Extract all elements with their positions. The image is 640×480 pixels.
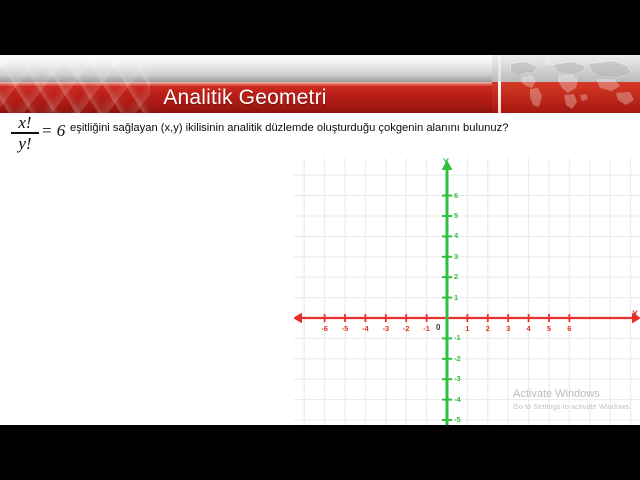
- activate-windows-watermark: Activate Windows Go to Settings to activ…: [513, 387, 635, 412]
- x-tick-label: -2: [399, 324, 413, 333]
- question-row: x! y! = 6 eşitliğini sağlayan (x,y) ikil…: [0, 113, 640, 155]
- page-title: Analitik Geometri: [0, 83, 490, 113]
- world-map-continents-icon: [492, 55, 640, 113]
- x-tick-label: 5: [542, 324, 556, 333]
- formula-fraction: x! y!: [10, 114, 40, 152]
- x-tick-label: -1: [420, 324, 434, 333]
- y-tick-label: 1: [454, 293, 458, 302]
- x-tick-label: 2: [481, 324, 495, 333]
- y-tick-label: -1: [454, 333, 461, 342]
- x-tick-label: 6: [562, 324, 576, 333]
- world-map-graphic: [492, 55, 640, 113]
- formula-denominator: y!: [10, 135, 40, 152]
- letterbox-bottom-bar: [0, 425, 640, 480]
- x-tick-label: 3: [501, 324, 515, 333]
- slide-root: Analitik Geometri x! y! = 6 eşitliğini s…: [0, 0, 640, 480]
- y-axis-label: Y: [443, 158, 449, 167]
- y-tick-label: -4: [454, 395, 461, 404]
- activate-windows-title: Activate Windows: [513, 387, 635, 401]
- formula-equals-value: = 6: [41, 122, 65, 139]
- x-tick-label: -6: [318, 324, 332, 333]
- letterbox-top-bar: [0, 0, 640, 55]
- y-tick-label: 2: [454, 272, 458, 281]
- slide-canvas: Analitik Geometri x! y! = 6 eşitliğini s…: [0, 55, 640, 425]
- y-tick-label: -3: [454, 374, 461, 383]
- y-tick-label: 6: [454, 191, 458, 200]
- x-axis-label: X: [632, 309, 638, 319]
- x-tick-label: 1: [460, 324, 474, 333]
- banner-map-divider: [498, 55, 501, 113]
- formula-expression: x! y! = 6: [8, 111, 70, 155]
- x-tick-label: 4: [522, 324, 536, 333]
- y-tick-label: 5: [454, 211, 458, 220]
- x-tick-label: -4: [358, 324, 372, 333]
- coordinate-plane-graph: -6-5-4-3-2-1123456654321-1-2-3-4-50 X Y …: [294, 158, 640, 425]
- formula-numerator: x!: [10, 114, 40, 131]
- y-tick-label: 3: [454, 252, 458, 261]
- origin-label: 0: [436, 323, 440, 332]
- x-axis-arrow-left: [294, 313, 302, 324]
- graph-gridlines: [294, 158, 640, 425]
- y-tick-label: -5: [454, 415, 461, 424]
- header-banner: Analitik Geometri: [0, 55, 640, 113]
- x-tick-label: -3: [379, 324, 393, 333]
- activate-windows-subtitle: Go to Settings to activate Windows.: [513, 401, 635, 412]
- y-tick-label: 4: [454, 231, 458, 240]
- y-tick-label: -2: [454, 354, 461, 363]
- graph-svg: [294, 158, 640, 425]
- question-text: eşitliğini sağlayan (x,y) ikilisinin ana…: [70, 121, 636, 135]
- x-tick-label: -5: [338, 324, 352, 333]
